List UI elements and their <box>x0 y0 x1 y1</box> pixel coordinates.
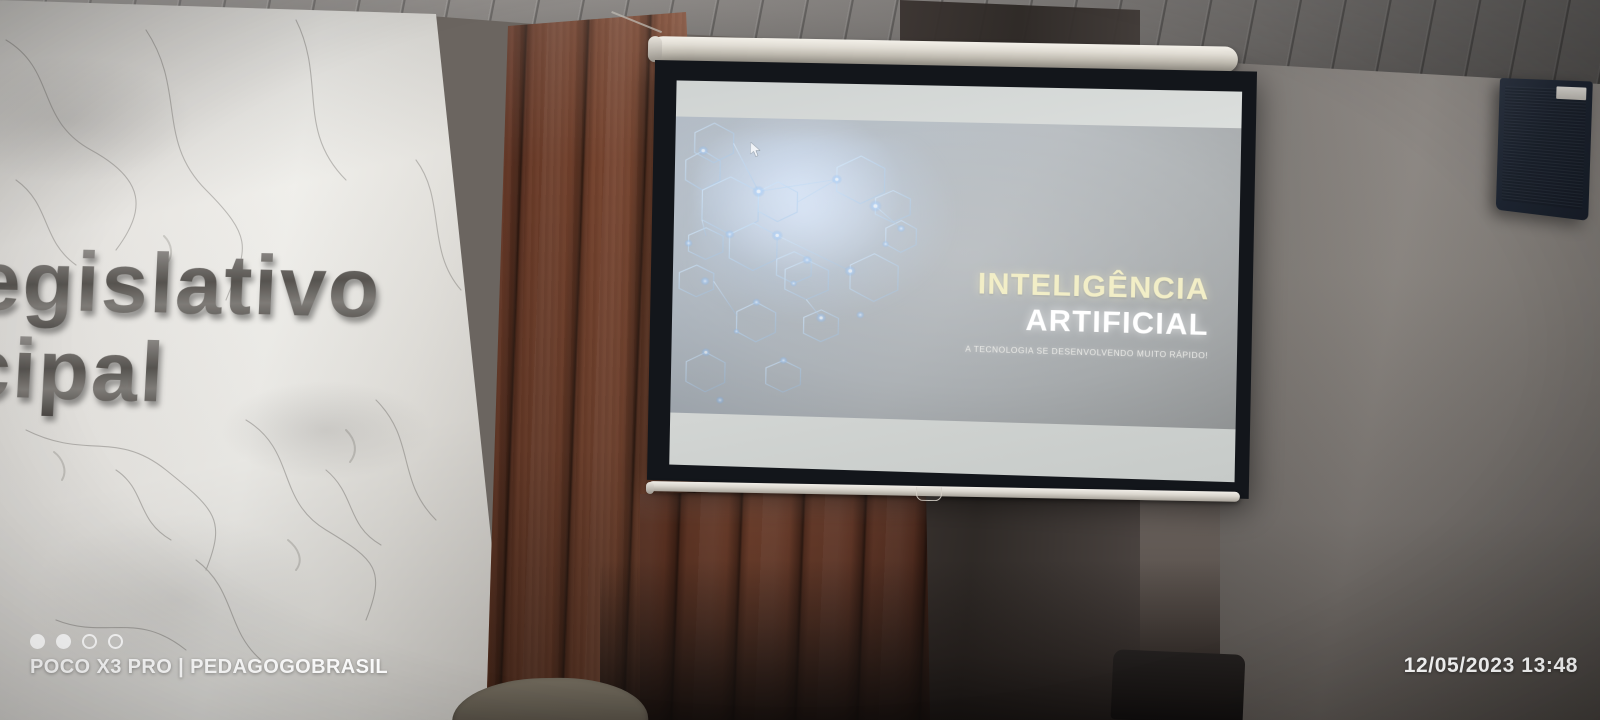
photograph: egislativo cipal PROJ <box>0 0 1600 720</box>
speaker-label <box>1556 86 1586 100</box>
screen-roller-end-cap <box>648 36 662 62</box>
slide-title-line-1: INTELIGÊNCIA <box>966 269 1210 306</box>
wall-speaker <box>1496 78 1593 221</box>
wall-lettering-line-2: cipal <box>0 319 168 422</box>
watermark-dot-4 <box>108 634 123 649</box>
watermark-dots <box>30 634 388 649</box>
watermark-dot-1 <box>30 634 45 649</box>
slide-text-block: INTELIGÊNCIA ARTIFICIAL A TECNOLOGIA SE … <box>965 269 1210 361</box>
chair-foreground-right <box>1111 649 1246 720</box>
projector-screen[interactable]: INTELIGÊNCIA ARTIFICIAL A TECNOLOGIA SE … <box>647 60 1257 499</box>
watermark-text: POCO X3 PRO | PEDAGOGOBRASIL <box>30 656 388 679</box>
photo-timestamp: 12/05/2023 13:48 <box>1404 654 1578 678</box>
watermark-dot-2 <box>56 634 71 649</box>
projected-slide: INTELIGÊNCIA ARTIFICIAL A TECNOLOGIA SE … <box>670 116 1241 429</box>
screen-surface: INTELIGÊNCIA ARTIFICIAL A TECNOLOGIA SE … <box>669 80 1242 482</box>
speaker-grille <box>1502 86 1587 209</box>
watermark-dot-3 <box>82 634 97 649</box>
screen-pull-hook[interactable] <box>916 487 942 501</box>
slide-title-line-2: ARTIFICIAL <box>966 304 1210 341</box>
screen-weight-bar-cap <box>646 482 654 494</box>
camera-watermark: POCO X3 PRO | PEDAGOGOBRASIL <box>30 634 388 679</box>
